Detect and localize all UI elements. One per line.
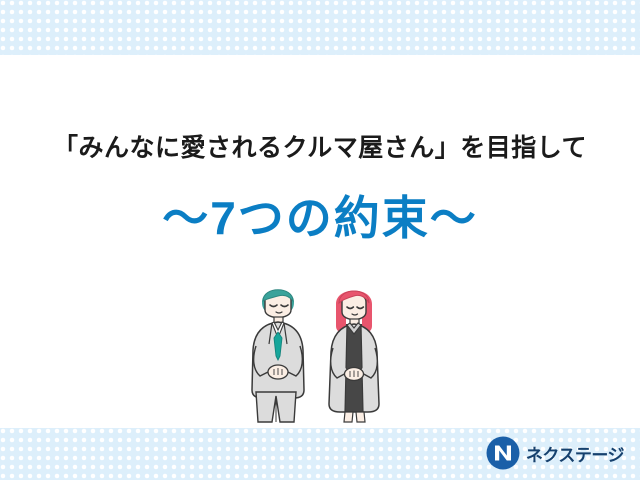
dot-pattern-top	[0, 0, 640, 55]
brand-logo-text: ネクステージ	[526, 441, 624, 466]
woman-in-coat-figure	[329, 291, 379, 423]
n-logo-icon	[486, 436, 520, 470]
brand-logo: ネクステージ	[486, 436, 624, 470]
subheadline-text: 〜7つの約束〜	[0, 182, 640, 248]
slide-canvas: 「みんなに愛されるクルマ屋さん」を目指して 〜7つの約束〜	[0, 0, 640, 480]
two-people-bowing-illustration	[236, 272, 412, 424]
man-in-suit-figure	[252, 290, 304, 422]
headline-text: 「みんなに愛されるクルマ屋さん」を目指して	[0, 128, 640, 164]
